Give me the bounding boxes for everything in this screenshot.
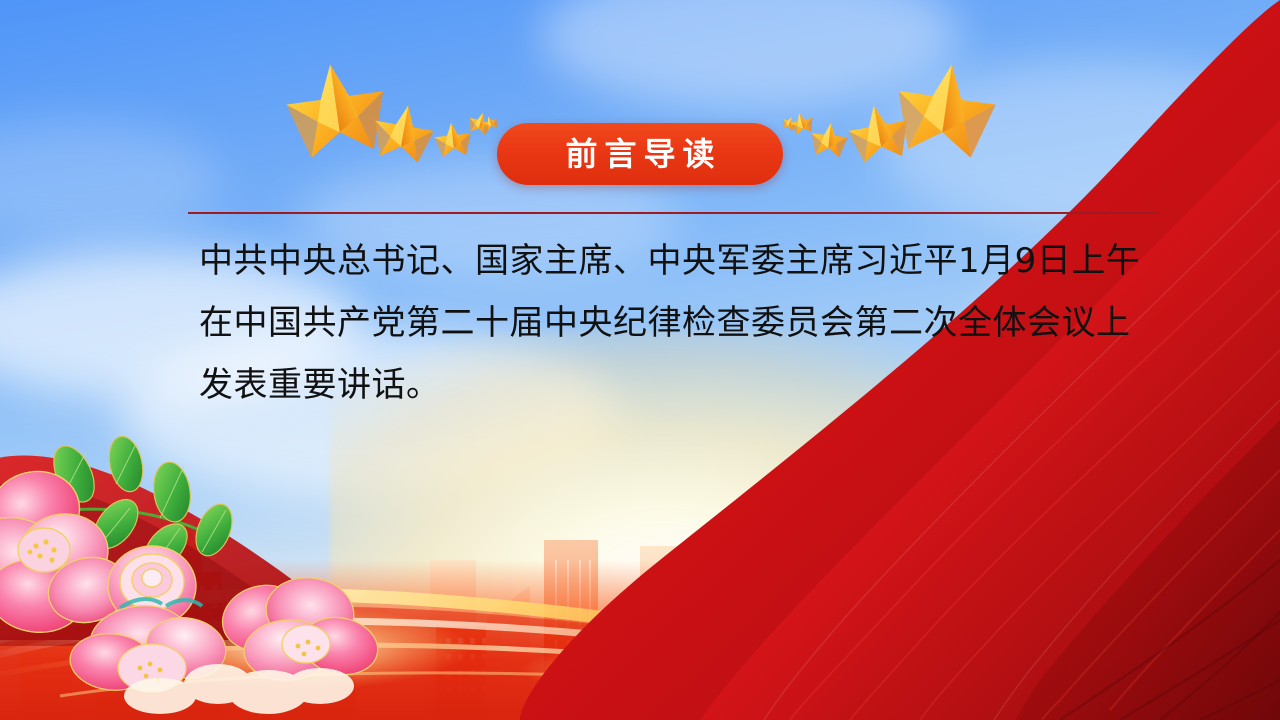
slide-canvas: 前言导读 中共中央总书记、国家主席、中央军委主席习近平1月9日上午 在中国共产党… — [0, 0, 1280, 720]
title-badge[interactable]: 前言导读 — [497, 123, 783, 185]
star-icon — [809, 121, 849, 158]
body-text-line-3: 发表重要讲话。 — [199, 354, 1179, 416]
star-decorations — [0, 0, 1280, 230]
peony-flower-cluster — [0, 400, 420, 720]
body-text-line-2: 在中国共产党第二十届中央纪律检查委员会第二次全体会议上 — [199, 292, 1179, 354]
title-badge-label: 前言导读 — [558, 138, 721, 170]
section-divider — [188, 212, 1158, 214]
star-icon — [433, 121, 473, 158]
body-text-line-1: 中共中央总书记、国家主席、中央军委主席习近平1月9日上午 — [199, 230, 1179, 292]
star-icon — [282, 58, 391, 161]
star-icon — [891, 58, 1000, 161]
body-text-block: 中共中央总书记、国家主席、中央军委主席习近平1月9日上午 在中国共产党第二十届中… — [199, 230, 1179, 416]
star-icon — [788, 110, 815, 136]
